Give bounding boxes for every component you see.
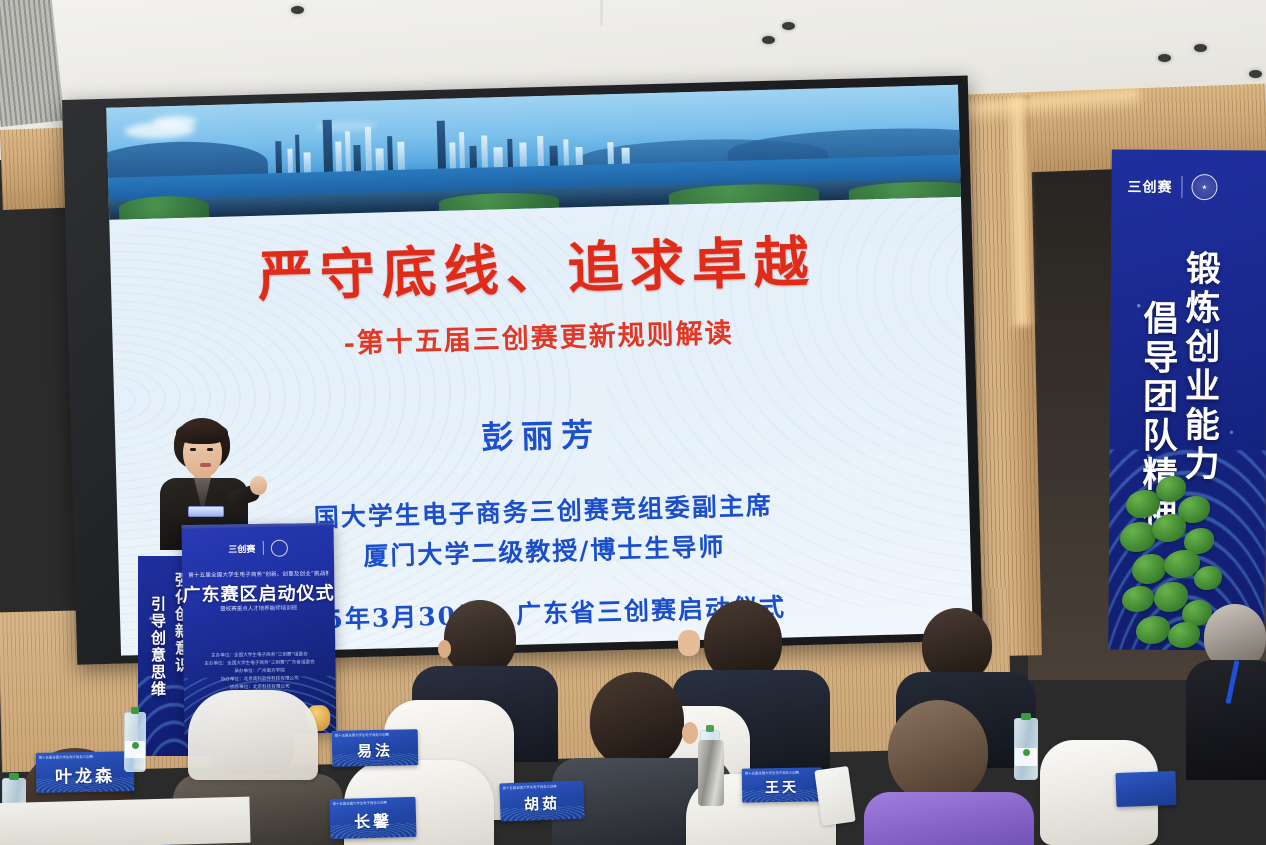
university-seal-icon: ★ <box>1191 174 1217 200</box>
table-nameplate: 第十五届全国大学生电子商务三创赛 易法 <box>332 729 419 766</box>
presenter-name-badge <box>188 506 224 517</box>
conference-photo: 严守底线、追求卓越 -第十五届三创赛更新规则解读 彭丽芳 国大学生电子商务三创赛… <box>0 0 1266 845</box>
cove-light-glow <box>1003 96 1034 326</box>
presenter-eye-left <box>190 448 196 451</box>
table-nameplate: 第十五届全国大学生电子商务三创赛 胡茹 <box>499 781 584 822</box>
attendee-head <box>922 608 992 682</box>
downlight-icon <box>291 6 304 14</box>
bottle-label <box>1015 748 1037 766</box>
smartphone <box>814 766 855 826</box>
conference-chair <box>188 690 318 780</box>
nameplate-wave <box>742 790 822 803</box>
lectern-credits: 主办单位：全国大学生电子商务“三创赛”组委会 主办单位：全国大学生电子商务“三创… <box>193 651 326 693</box>
lectern-logo-row: 三创赛 <box>196 537 320 559</box>
nameplate-wave <box>330 823 416 839</box>
bottle-cap <box>1021 713 1031 720</box>
downlight-icon <box>1158 54 1171 62</box>
ceiling-seam <box>600 0 603 26</box>
presenter-eye-right <box>207 448 213 451</box>
lectern-top-edge <box>182 523 337 529</box>
nameplate-header: 第十五届全国大学生电子商务三创赛 <box>502 783 580 791</box>
attendee-ear <box>438 640 451 658</box>
nameplate-header: 第十五届全国大学生电子商务三创赛 <box>745 769 819 775</box>
attendee <box>1196 604 1266 774</box>
bottle-cap <box>9 773 19 780</box>
banner-logo-row: 三创赛 ★ <box>1127 172 1251 203</box>
table-nameplate: 第十五届全国大学生电子商务三创赛 叶龙森 <box>36 751 135 793</box>
thermos-tumbler <box>698 740 724 806</box>
table-nameplate-partial <box>1115 771 1176 807</box>
logo-divider <box>262 541 263 555</box>
nameplate-header: 第十五届全国大学生电子商务三创赛 <box>39 753 131 760</box>
presenter-fringe <box>176 422 228 444</box>
water-bottle <box>1014 718 1038 780</box>
bottle-cap <box>706 725 714 732</box>
attendee-head <box>590 672 684 768</box>
table-edge <box>0 797 251 845</box>
lectern-sub-small: 暨校赛重点人才培养能师培训班 <box>189 603 329 613</box>
sanchuangsai-logo: 三创赛 <box>1127 177 1172 197</box>
attendee-torso <box>1186 660 1266 780</box>
attendee <box>858 700 1038 845</box>
downlight-icon <box>782 22 795 30</box>
banner-left-line-2: 引导创意思维 <box>148 596 169 698</box>
sanchuangsai-logo: 三创赛 <box>228 542 255 555</box>
table-nameplate: 第十五届全国大学生电子商务三创赛 长馨 <box>329 797 416 839</box>
attendee-torso <box>864 792 1034 845</box>
lectern-header-small: 第十五届全国大学生电子商务“创新、创意及创业”挑战赛 <box>188 569 328 579</box>
presenter-hand <box>250 476 267 495</box>
attendee-ear <box>682 722 698 744</box>
attendee-head <box>444 600 516 676</box>
slide-skyline-image <box>106 85 961 220</box>
attendee-head <box>888 700 988 802</box>
nameplate-wave <box>332 753 418 767</box>
presenter-mouth <box>200 463 211 467</box>
downlight-icon <box>1194 44 1207 52</box>
nameplate-wave <box>36 778 134 793</box>
nameplate-header: 第十五届全国大学生电子商务三创赛 <box>335 731 415 737</box>
attendee-hand-raised <box>678 630 700 656</box>
nameplate-header: 第十五届全国大学生电子商务三创赛 <box>333 799 413 806</box>
bottle-cap <box>131 707 140 714</box>
table-nameplate: 第十五届全国大学生电子商务三创赛 王天 <box>742 767 823 802</box>
downlight-icon <box>762 36 775 44</box>
downlight-icon <box>1249 70 1262 78</box>
bottle-label <box>125 741 145 758</box>
logo-divider <box>1181 176 1182 198</box>
banner-right-line-1: 锻炼创业能力 <box>1173 250 1226 484</box>
university-seal-icon <box>270 539 287 556</box>
water-bottle <box>124 712 146 772</box>
ceiling-vent-grille <box>0 0 65 127</box>
